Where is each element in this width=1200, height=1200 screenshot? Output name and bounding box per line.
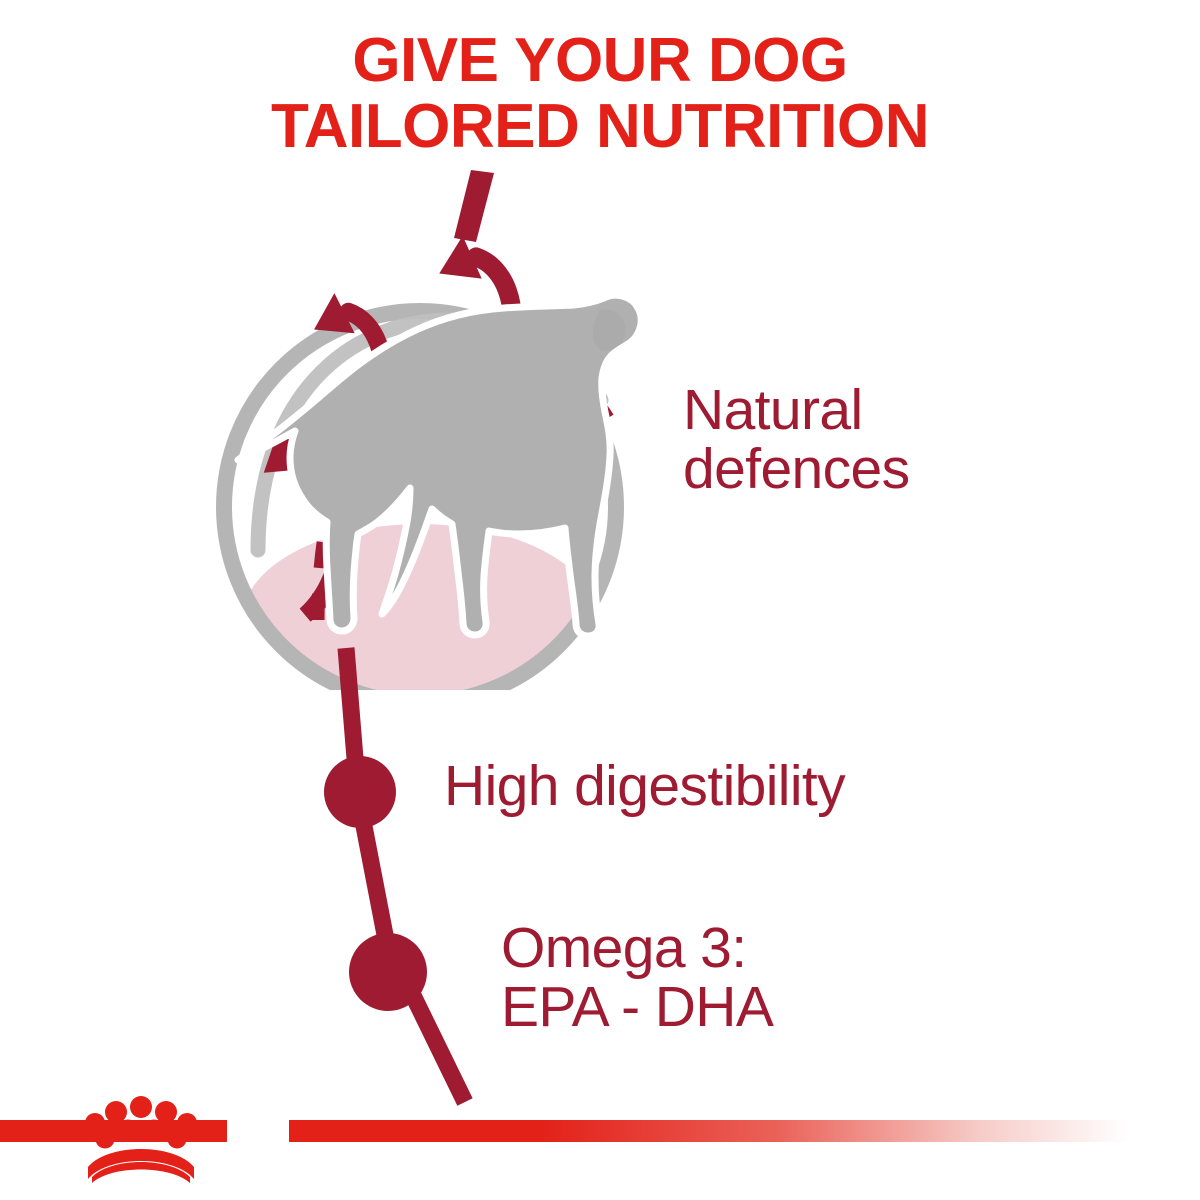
poster-root: GIVE YOUR DOG TAILORED NUTRITION <box>0 0 1200 1200</box>
dog-circle-illustration-svg <box>196 150 656 690</box>
headline-line-1: GIVE YOUR DOG <box>0 28 1200 94</box>
footer-bar-right <box>289 1120 1129 1142</box>
benefit-label-high-digestibility: High digestibility <box>444 757 845 816</box>
natural-defences-icon <box>196 150 656 690</box>
connector-node-2 <box>349 933 427 1011</box>
benefit-connector <box>280 640 560 1110</box>
benefit-label-omega-3: Omega 3: EPA - DHA <box>501 919 773 1038</box>
crown-icon <box>76 1087 206 1187</box>
page-title: GIVE YOUR DOG TAILORED NUTRITION <box>0 28 1200 159</box>
connector-svg <box>280 640 560 1110</box>
royal-canin-crown-logo <box>76 1087 206 1187</box>
tick-mark-top-icon <box>454 170 494 242</box>
benefit-label-natural-defences: Natural defences <box>683 381 910 500</box>
connector-node-1 <box>324 756 396 828</box>
footer <box>0 1080 1200 1200</box>
